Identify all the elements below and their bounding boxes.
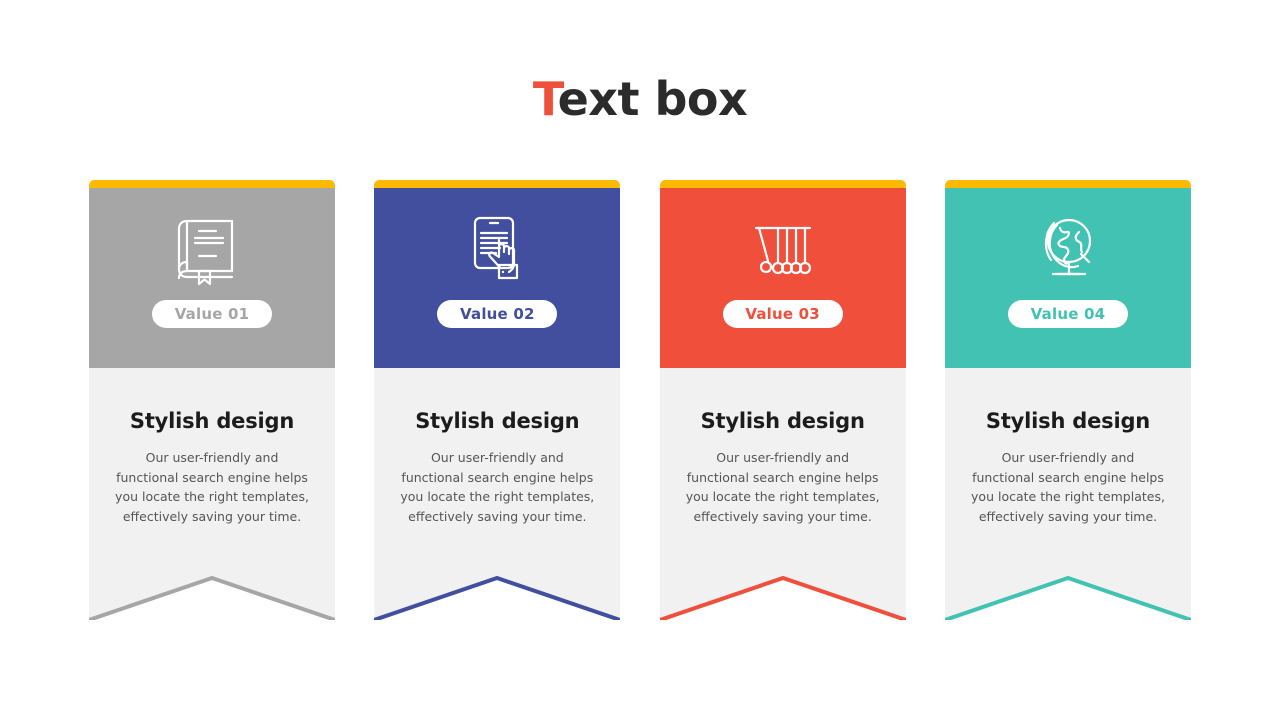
value-card-4[interactable]: Value 04 Stylish design Our user-friendl… bbox=[945, 180, 1191, 625]
card-badge-3[interactable]: Value 03 bbox=[723, 300, 843, 328]
page-title-accent: T bbox=[533, 72, 558, 126]
card-description-4: Our user-friendly and functional search … bbox=[953, 448, 1183, 526]
card-notch-4 bbox=[945, 564, 1191, 620]
card-header-4: Value 04 bbox=[945, 188, 1191, 368]
card-header-1: Value 01 bbox=[89, 188, 335, 368]
card-body-4: Stylish design Our user-friendly and fun… bbox=[945, 368, 1191, 620]
card-heading-3: Stylish design bbox=[668, 408, 898, 434]
slide-canvas: Text box bbox=[0, 0, 1280, 720]
card-heading-2: Stylish design bbox=[382, 408, 612, 434]
card-heading-4: Stylish design bbox=[953, 408, 1183, 434]
page-title-rest: ext box bbox=[558, 72, 748, 126]
card-notch-3 bbox=[660, 564, 906, 620]
card-description-1: Our user-friendly and functional search … bbox=[97, 448, 327, 526]
card-description-2: Our user-friendly and functional search … bbox=[382, 448, 612, 526]
page-title: Text box bbox=[0, 68, 1280, 130]
card-heading-1: Stylish design bbox=[97, 408, 327, 434]
card-notch-2 bbox=[374, 564, 620, 620]
book-icon bbox=[171, 208, 253, 290]
card-header-3: Value 03 bbox=[660, 188, 906, 368]
card-text-2: Stylish design Our user-friendly and fun… bbox=[374, 368, 620, 526]
card-text-1: Stylish design Our user-friendly and fun… bbox=[89, 368, 335, 526]
card-row: Value 01 Stylish design Our user-friendl… bbox=[89, 180, 1191, 625]
card-badge-1[interactable]: Value 01 bbox=[152, 300, 272, 328]
tablet-hand-icon bbox=[456, 208, 538, 290]
card-badge-4[interactable]: Value 04 bbox=[1008, 300, 1128, 328]
value-card-1[interactable]: Value 01 Stylish design Our user-friendl… bbox=[89, 180, 335, 625]
card-header-2: Value 02 bbox=[374, 188, 620, 368]
card-notch-1 bbox=[89, 564, 335, 620]
card-body-3: Stylish design Our user-friendly and fun… bbox=[660, 368, 906, 620]
card-body-1: Stylish design Our user-friendly and fun… bbox=[89, 368, 335, 620]
card-text-3: Stylish design Our user-friendly and fun… bbox=[660, 368, 906, 526]
card-text-4: Stylish design Our user-friendly and fun… bbox=[945, 368, 1191, 526]
newtons-cradle-icon bbox=[742, 208, 824, 290]
value-card-2[interactable]: Value 02 Stylish design Our user-friendl… bbox=[374, 180, 620, 625]
card-description-3: Our user-friendly and functional search … bbox=[668, 448, 898, 526]
globe-icon bbox=[1027, 208, 1109, 290]
value-card-3[interactable]: Value 03 Stylish design Our user-friendl… bbox=[660, 180, 906, 625]
card-body-2: Stylish design Our user-friendly and fun… bbox=[374, 368, 620, 620]
card-badge-2[interactable]: Value 02 bbox=[437, 300, 557, 328]
